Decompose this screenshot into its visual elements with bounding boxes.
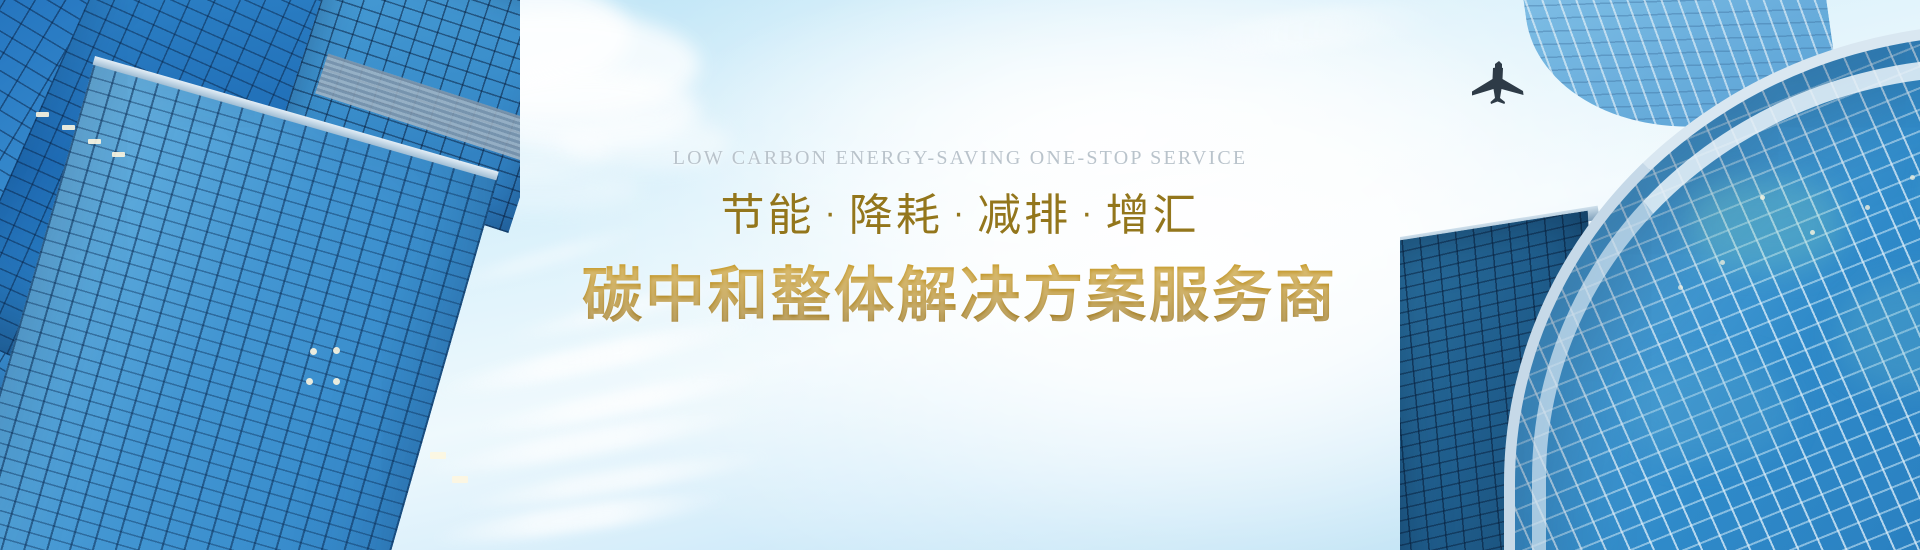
lit-window — [1760, 195, 1765, 200]
glass-reflection-patch — [1690, 180, 1840, 270]
airplane-icon — [1468, 58, 1530, 104]
lit-window — [112, 152, 125, 157]
lit-window — [62, 125, 75, 130]
hero-banner: LOW CARBON ENERGY-SAVING ONE-STOP SERVIC… — [0, 0, 1920, 550]
lit-window — [333, 378, 340, 385]
lit-window — [1678, 285, 1683, 290]
lit-window — [36, 112, 49, 117]
lit-window — [306, 378, 313, 385]
glass-reflection-patch — [1840, 280, 1920, 390]
lit-window — [88, 139, 101, 144]
lit-window — [1910, 175, 1915, 180]
lit-window — [333, 347, 340, 354]
glass-skyscrapers-left — [0, 0, 520, 550]
lit-window — [1720, 260, 1725, 265]
lit-window — [1810, 230, 1815, 235]
glass-reflection-patch — [1630, 360, 1790, 460]
lit-window — [310, 348, 317, 355]
lit-window — [1865, 205, 1870, 210]
lit-window — [452, 476, 468, 483]
lit-window — [430, 452, 446, 459]
